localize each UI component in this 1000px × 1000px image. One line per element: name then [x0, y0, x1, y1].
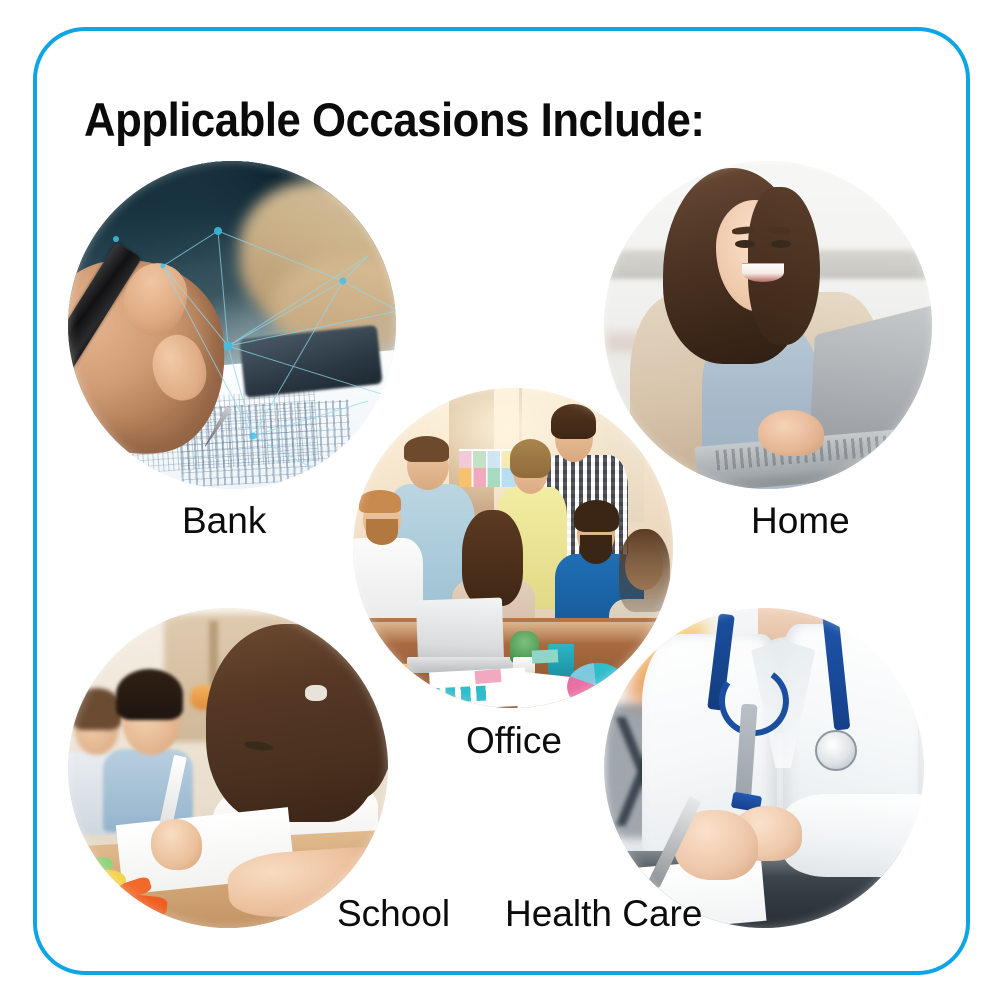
- office-person-5-beard: [580, 535, 612, 564]
- school-child-1-hair: [71, 688, 122, 730]
- office-person-1-hair: [404, 436, 449, 462]
- home-eye-left: [735, 240, 755, 248]
- office-person-2-hair: [359, 490, 401, 512]
- occasion-image-bank: [68, 161, 396, 489]
- school-girl-hand: [151, 819, 202, 870]
- office-laptop-screen: [416, 598, 505, 665]
- home-eye-right: [771, 240, 791, 248]
- office-sticky-note-green: [532, 650, 558, 664]
- page-title: Applicable Occasions Include:: [84, 96, 704, 143]
- school-girl-hair: [206, 624, 382, 822]
- stethoscope-chestpiece-icon: [815, 730, 857, 772]
- health-care-scene: [604, 608, 924, 928]
- office-person-3-hair: [510, 439, 552, 477]
- caption-bank: Bank: [182, 502, 266, 539]
- caption-health-care: Health Care: [505, 895, 702, 932]
- caption-office: Office: [466, 722, 562, 759]
- occasion-image-health-care: [604, 608, 924, 928]
- health-coat-sleeve: [783, 794, 924, 877]
- home-hand: [758, 410, 824, 456]
- occasion-image-school: [68, 608, 388, 928]
- school-child-2-hair: [116, 669, 183, 720]
- office-person-4-hair: [551, 404, 596, 439]
- office-person-5-hair: [574, 500, 619, 532]
- office-person-2-beard: [366, 519, 398, 545]
- office-person-7-hair: [462, 510, 523, 606]
- caption-home: Home: [751, 502, 850, 539]
- occasions-infographic: Applicable Occasions Include:: [0, 0, 1000, 1000]
- office-sticky-note-pink: [474, 669, 501, 684]
- bank-scene: [68, 161, 396, 489]
- office-person-6-hair: [619, 529, 670, 612]
- school-girl-hair-tie: [305, 685, 327, 701]
- bank-network-overlay: [68, 161, 396, 489]
- caption-school: School: [337, 895, 450, 932]
- school-scene: [68, 608, 388, 928]
- office-sticky-note-row: [459, 468, 517, 487]
